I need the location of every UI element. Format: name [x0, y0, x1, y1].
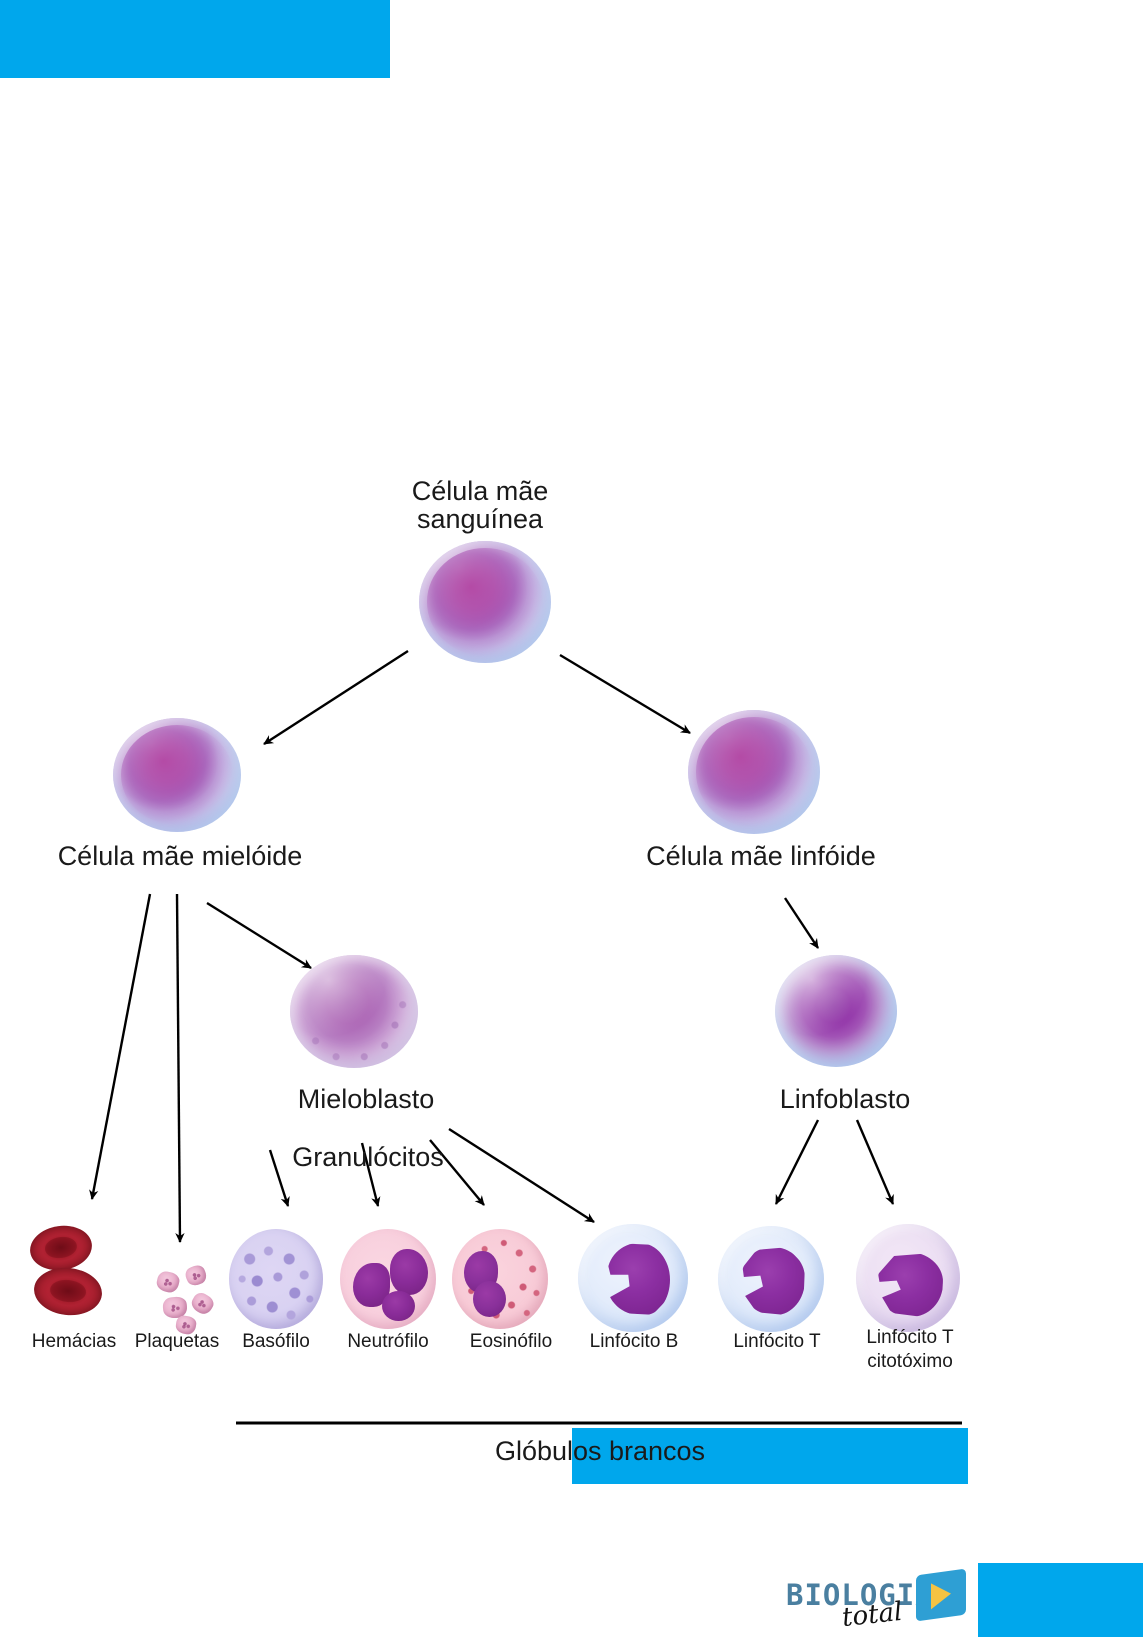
cell-illustration-myeloid-stem	[113, 718, 241, 832]
nucleus-lobe	[382, 1291, 415, 1321]
cell-illustration-linfocito-b	[578, 1224, 688, 1332]
cell-granules	[229, 1229, 323, 1329]
cell-sheen	[113, 718, 241, 832]
label-linfocito-tc-line1: Linfócito T	[866, 1327, 953, 1349]
label-lymphoblast: Linfoblasto	[780, 1084, 911, 1115]
label-myeloblast: Mieloblasto	[298, 1084, 435, 1115]
cell-illustration-linfocito-t	[718, 1226, 824, 1332]
cell-illustration-plaqueta-2	[183, 1263, 209, 1288]
label-stem-line1: Célula mãe	[412, 476, 549, 507]
edge-stem-myeloid	[264, 651, 408, 744]
cell-sheen	[688, 710, 820, 834]
nucleus	[741, 1247, 805, 1315]
cell-illustration-hemacia-2	[32, 1265, 105, 1319]
cell-illustration-lymphoid-stem	[688, 710, 820, 834]
cell-illustration-stem	[419, 541, 551, 663]
edge-stem-lymphoid	[560, 655, 690, 733]
label-hemacias: Hemácias	[32, 1331, 116, 1353]
cell-illustration-basofilo	[229, 1229, 323, 1329]
nucleus-lobe	[473, 1281, 506, 1317]
edge-myeloid-myeloblast	[207, 903, 311, 968]
cell-sheen	[419, 541, 551, 663]
edge-myeloblast-basofilo	[270, 1150, 288, 1206]
cell-illustration-plaqueta-1	[155, 1270, 181, 1294]
label-linfocito-b: Linfócito B	[590, 1331, 679, 1353]
label-linfocito-tc-line2: citotóximo	[867, 1351, 953, 1373]
cell-illustration-lymphoblast	[775, 955, 897, 1067]
play-triangle-icon	[916, 1568, 966, 1621]
cell-illustration-eosinofilo	[452, 1229, 548, 1329]
nucleus-lobe	[390, 1249, 428, 1295]
nucleus	[877, 1252, 944, 1317]
cell-illustration-hemacia-1	[27, 1222, 95, 1274]
label-neutrofilo: Neutrófilo	[347, 1331, 428, 1353]
biologia-total-logo: BIOLOGIA total	[786, 1572, 976, 1626]
label-stem-line2: sanguínea	[417, 504, 543, 535]
label-basofilo: Basófilo	[242, 1331, 310, 1353]
cell-illustration-myeloblast	[290, 955, 418, 1068]
logo-side-band	[978, 1563, 1143, 1637]
label-globulos-brancos: Glóbulos brancos	[495, 1436, 705, 1467]
cell-illustration-neutrofilo	[340, 1229, 436, 1329]
label-granulocitos: Granulócitos	[292, 1142, 444, 1173]
label-myeloid-stem: Célula mãe mielóide	[58, 841, 303, 872]
cell-sheen	[290, 955, 418, 1068]
nucleus	[607, 1243, 671, 1314]
label-eosinofilo: Eosinófilo	[470, 1331, 552, 1353]
cell-illustration-linfocito-t-citotoximo	[856, 1224, 960, 1332]
label-linfocito-t: Linfócito T	[733, 1331, 820, 1353]
logo-script-text: total	[841, 1597, 904, 1633]
edge-myeloblast-linfocitoB	[449, 1129, 594, 1222]
edge-myeloid-hemacias	[92, 894, 150, 1199]
edge-lymphoid-lymphoblast	[785, 898, 818, 948]
cell-illustration-plaqueta-4	[189, 1290, 217, 1317]
label-lymphoid-stem: Célula mãe linfóide	[646, 841, 876, 872]
edge-lymphoblast-linfocitoTc	[857, 1120, 893, 1204]
cell-sheen	[775, 955, 897, 1067]
edge-myeloid-plaquetas	[177, 894, 180, 1242]
edge-lymphoblast-linfocitoT	[776, 1120, 818, 1204]
label-plaquetas: Plaquetas	[135, 1331, 220, 1353]
top-brand-band	[0, 0, 390, 78]
